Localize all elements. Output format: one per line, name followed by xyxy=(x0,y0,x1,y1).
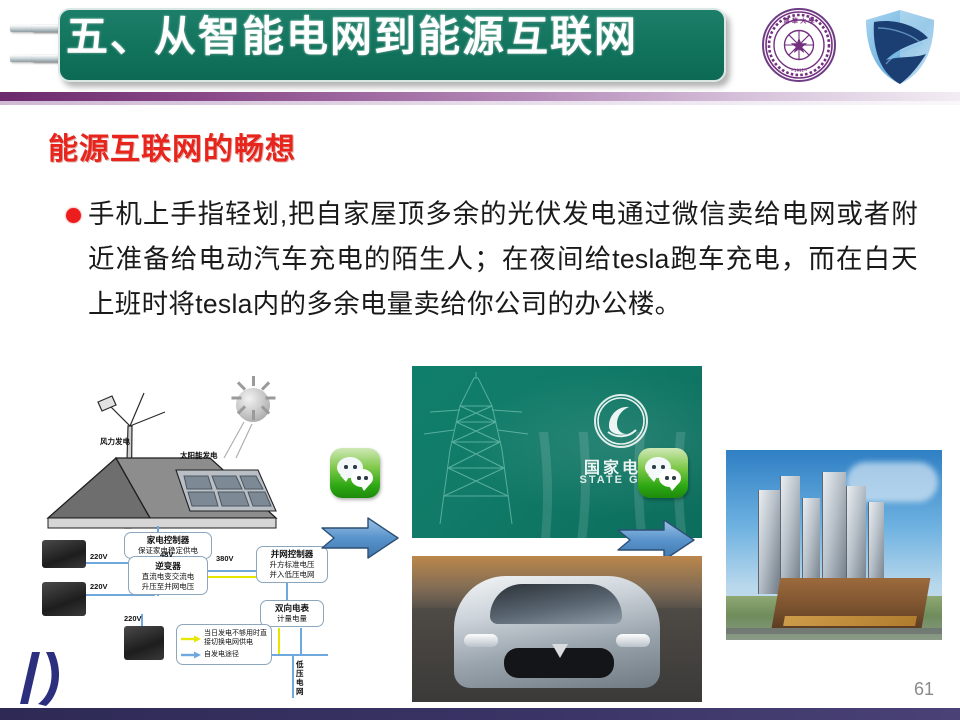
section-title: 五、从智能电网到能源互联网 xyxy=(66,8,638,66)
box-title: 双向电表 xyxy=(264,603,320,613)
tesla-car-photo xyxy=(412,556,702,702)
wire-grid-drop xyxy=(292,654,294,698)
svg-text:~1911~: ~1911~ xyxy=(791,68,808,73)
header-purple-divider xyxy=(0,92,960,101)
header-purple-divider-secondary xyxy=(0,101,960,105)
legend-text-self-generation: 自发电途径 xyxy=(204,650,239,660)
box-title: 并网控制器 xyxy=(260,549,324,559)
office-building-photo xyxy=(726,450,942,640)
voltage-label-220v-pc: 220V xyxy=(90,582,108,591)
box-desc: 升方标准电压 并入低压电网 xyxy=(270,560,315,579)
svg-text:清 華 大 學: 清 華 大 學 xyxy=(783,17,814,25)
blue-right-arrow-icon xyxy=(320,516,400,560)
legend-text-grid-supply: 当日发电不够用时直接切换电网供电 xyxy=(204,629,267,647)
house-roof-illustration xyxy=(28,378,358,548)
wechat-icon xyxy=(330,448,380,498)
diagram-label-wind: 风力发电 xyxy=(100,436,130,447)
desktop-computer-icon xyxy=(42,582,86,616)
diagram-legend: 当日发电不够用时直接切换电网供电 自发电途径 xyxy=(176,624,272,665)
corner-brand-logo-icon xyxy=(14,648,64,706)
footer-bar xyxy=(0,708,960,720)
speaker-system-icon xyxy=(124,626,164,660)
voltage-label-220v-tv: 220V xyxy=(90,552,108,561)
box-desc: 直流电变交流电 升压至并网电压 xyxy=(142,572,195,591)
page-number: 61 xyxy=(914,679,934,700)
legend-arrow-yellow-icon xyxy=(181,635,201,643)
state-grid-logo-icon xyxy=(594,394,648,448)
diagram-box-bidirectional-meter: 双向电表 计量电量 xyxy=(260,600,324,627)
bullet-paragraph: 手机上手指轻划,把自家屋顶多余的光伏发电通过微信卖给电网或者附近准备给电动汽车充… xyxy=(66,192,918,327)
voltage-label-220v-speaker: 220V xyxy=(124,614,142,623)
blue-shield-logo-icon xyxy=(864,8,936,86)
wechat-icon xyxy=(638,448,688,498)
diagram-box-inverter: 逆变器 直流电变交流电 升压至并网电压 xyxy=(128,556,208,595)
page-title: 能源互联网的畅想 xyxy=(48,124,296,168)
voltage-label-48v: 48V xyxy=(160,550,173,559)
diagram-label-low-voltage-grid: 低压电网 xyxy=(296,660,306,696)
home-energy-system-diagram: 风力发电 太阳能发电 家电控制器 保证家电稳定供电 逆变器 直流电变交流电 升压… xyxy=(28,378,358,702)
wire-meter-to-grid xyxy=(300,628,302,656)
diagram-box-grid-controller: 并网控制器 升方标准电压 并入低压电网 xyxy=(256,546,328,583)
slide-header: 五、从智能电网到能源互联网 清 華 大 學 ~1911~ xyxy=(0,0,960,96)
box-desc: 计量电量 xyxy=(277,614,307,623)
box-title: 逆变器 xyxy=(132,561,204,571)
voltage-label-380v: 380V xyxy=(216,554,234,563)
wire-grid-to-meter xyxy=(278,628,280,656)
bullet-paragraph-text: 手机上手指轻划,把自家屋顶多余的光伏发电通过微信卖给电网或者附近准备给电动汽车充… xyxy=(88,192,918,327)
legend-arrow-blue-icon xyxy=(181,651,201,659)
television-icon xyxy=(42,540,86,568)
tsinghua-university-seal-icon: 清 華 大 學 ~1911~ xyxy=(762,8,836,82)
diagram-label-solar: 太阳能发电 xyxy=(180,450,218,461)
bullet-dot-icon xyxy=(66,208,81,223)
box-title: 家电控制器 xyxy=(128,535,208,545)
transmission-tower-icon xyxy=(416,372,536,532)
